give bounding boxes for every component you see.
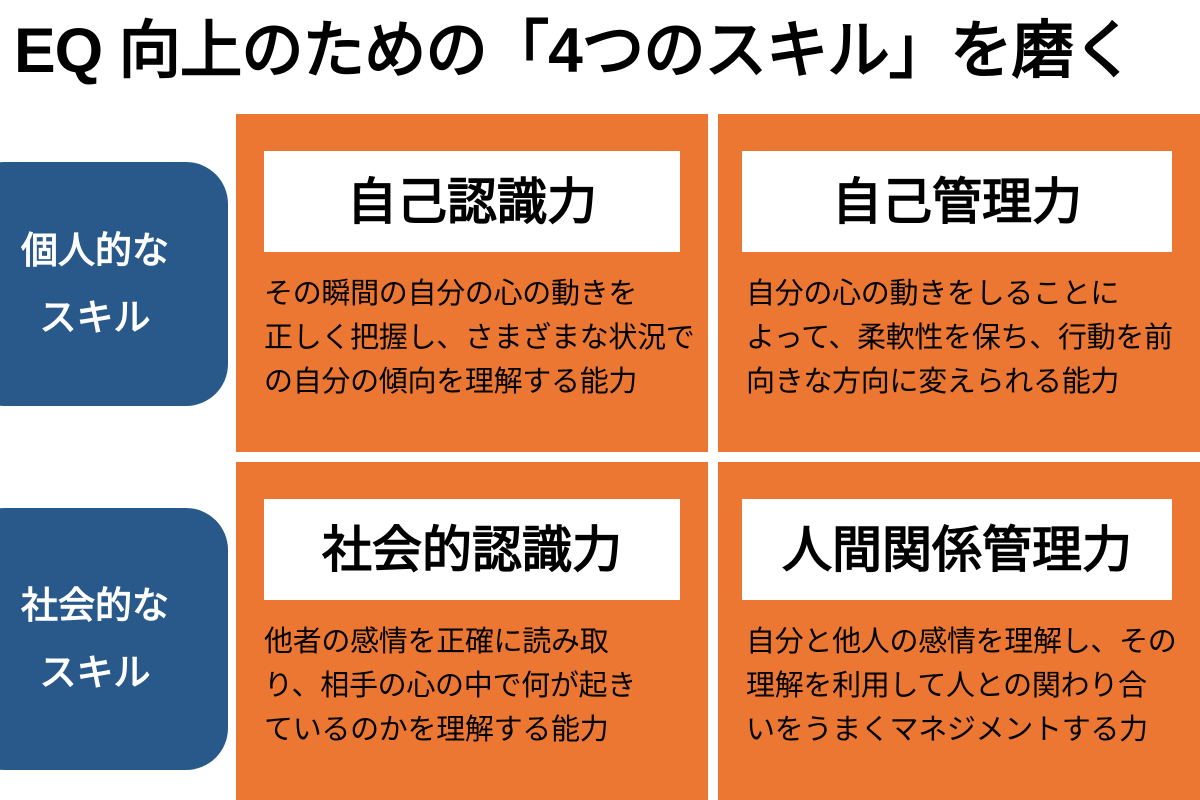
cell-heading-self-awareness: 自己認識力	[264, 151, 680, 252]
category-label-line: 社会的な	[21, 587, 169, 624]
cell-body-self-awareness: その瞬間の自分の心の動きを 正しく把握し、さまざまな状況で の自分の傾向を理解す…	[264, 272, 694, 404]
infographic-canvas: EQ 向上のための「4つのスキル」を磨く 自己認識力 その瞬間の自分の心の動きを…	[0, 0, 1200, 800]
cell-body-line: 他者の感情を正確に読み取	[264, 620, 694, 664]
category-label-line: スキル	[40, 299, 151, 336]
cell-heading-social-awareness: 社会的認識力	[264, 499, 680, 600]
cell-body-line: 正しく把握し、さまざまな状況で	[264, 316, 694, 360]
page-title: EQ 向上のための「4つのスキル」を磨く	[14, 8, 1182, 94]
cell-body-self-management: 自分の心の動きをしることに よって、柔軟性を保ち、行動を前 向きな方向に変えられ…	[746, 272, 1186, 404]
category-label-personal-skills: 個人的な スキル	[0, 162, 228, 406]
skills-matrix: 自己認識力 その瞬間の自分の心の動きを 正しく把握し、さまざまな状況で の自分の…	[236, 114, 1200, 800]
category-label-line: 個人的な	[21, 232, 169, 269]
cell-body-line: 自分の心の動きをしることに	[746, 272, 1186, 316]
matrix-cell-self-awareness: 自己認識力 その瞬間の自分の心の動きを 正しく把握し、さまざまな状況で の自分の…	[236, 114, 708, 452]
cell-body-line: いをうまくマネジメントする力	[746, 708, 1186, 752]
cell-body-line: の自分の傾向を理解する能力	[264, 360, 694, 404]
matrix-cell-relationship-management: 人間関係管理力 自分と他人の感情を理解し、その 理解を利用して人との関わり合 い…	[718, 462, 1200, 800]
category-label-line: スキル	[40, 654, 151, 691]
matrix-cell-self-management: 自己管理力 自分の心の動きをしることに よって、柔軟性を保ち、行動を前 向きな方…	[718, 114, 1200, 452]
cell-body-line: 向きな方向に変えられる能力	[746, 360, 1186, 404]
cell-body-line: 理解を利用して人との関わり合	[746, 664, 1186, 708]
cell-body-social-awareness: 他者の感情を正確に読み取 り、相手の心の中で何が起き ているのかを理解する能力	[264, 620, 694, 752]
cell-body-line: り、相手の心の中で何が起き	[264, 664, 694, 708]
cell-body-line: その瞬間の自分の心の動きを	[264, 272, 694, 316]
cell-body-relationship-management: 自分と他人の感情を理解し、その 理解を利用して人との関わり合 いをうまくマネジメ…	[746, 620, 1186, 752]
cell-body-line: よって、柔軟性を保ち、行動を前	[746, 316, 1186, 360]
matrix-cell-social-awareness: 社会的認識力 他者の感情を正確に読み取 り、相手の心の中で何が起き ているのかを…	[236, 462, 708, 800]
category-label-social-skills: 社会的な スキル	[0, 508, 228, 770]
cell-heading-self-management: 自己管理力	[742, 151, 1172, 252]
cell-heading-relationship-management: 人間関係管理力	[742, 499, 1172, 600]
cell-body-line: 自分と他人の感情を理解し、その	[746, 620, 1186, 664]
cell-body-line: ているのかを理解する能力	[264, 708, 694, 752]
